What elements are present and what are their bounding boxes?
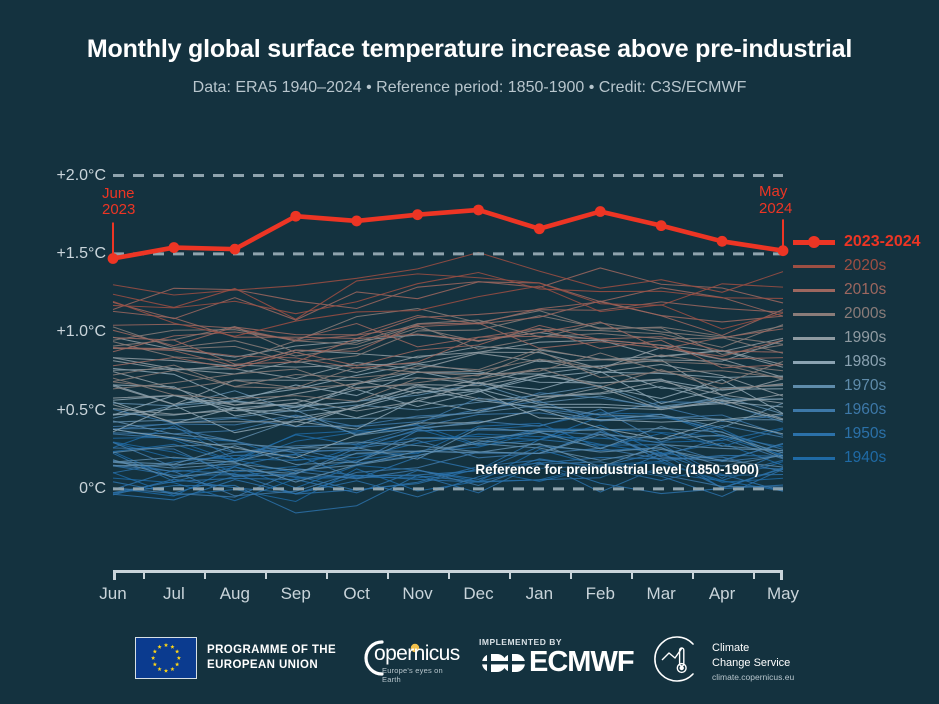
ecmwf-mark-icon [479,650,525,676]
highlight-series-marker [656,220,667,231]
highlight-series-marker [717,236,728,247]
legend-item-2020s[interactable]: 2020s [793,254,933,278]
eu-programme-line1: PROGRAMME OF THE [207,643,336,658]
eu-programme-line2: EUROPEAN UNION [207,658,336,673]
page-subtitle: Data: ERA5 1940–2024 • Reference period:… [0,79,939,97]
eu-star [153,649,157,653]
highlight-series-marker [351,216,362,227]
eu-star [157,667,161,671]
y-axis-tick-label: 0°C [18,480,106,498]
legend-label: 1990s [844,329,886,347]
decade-line-2020s [113,274,783,319]
x-axis-tick [753,570,755,579]
x-axis-cap [780,570,783,580]
legend-label: 1980s [844,353,886,371]
x-axis-tick [509,570,511,579]
legend-swatch [793,240,835,245]
x-axis-tick [265,570,267,579]
highlight-series-marker [229,244,240,255]
x-axis-tick [631,570,633,579]
x-axis-label-apr: Apr [709,584,735,604]
x-axis-label-nov: Nov [402,584,432,604]
x-axis-label-mar: Mar [647,584,676,604]
legend-item-2023-2024[interactable]: 2023-2024 [793,230,933,254]
eu-star [175,662,179,666]
y-axis-tick-label: +0.5°C [18,402,106,420]
x-axis-label-oct: Oct [343,584,369,604]
legend-item-1950s[interactable]: 1950s [793,422,933,446]
ecmwf-wordmark: ECMWF [529,646,634,679]
eu-flag-icon [135,637,197,679]
x-axis-tick [448,570,450,579]
chart-canvas: Monthly global surface temperature incre… [0,0,939,704]
legend-swatch [793,457,835,460]
x-axis-tick [143,570,145,579]
x-axis-label-dec: Dec [463,584,493,604]
eu-star [170,645,174,649]
c3s-logo: Climate Change Service climate.copernicu… [650,634,835,684]
x-axis-label-jan: Jan [526,584,553,604]
legend-item-1940s[interactable]: 1940s [793,446,933,470]
decade-line-2010s [113,282,783,320]
copernicus-logo: opernicus Europe's eyes on Earth [352,636,462,680]
x-axis-label-feb: Feb [586,584,615,604]
legend-swatch [793,361,835,364]
legend-label: 2010s [844,281,886,299]
annotation-june-2023-line1: June [102,186,135,203]
x-axis-label-sep: Sep [281,584,311,604]
annotation-june-2023: June 2023 [102,186,135,220]
x-axis-label-aug: Aug [220,584,250,604]
x-axis-tick [204,570,206,579]
y-axis-tick-label: +1.0°C [18,323,106,341]
highlight-series-marker [534,223,545,234]
copernicus-wordmark: opernicus [374,642,460,666]
annotation-may-2024: May 2024 [759,184,792,218]
page-title: Monthly global surface temperature incre… [0,35,939,64]
y-axis-tick-label: +2.0°C [18,167,106,185]
annotation-may-2024-line1: May [759,184,792,201]
legend-label: 1960s [844,401,886,419]
legend-item-1980s[interactable]: 1980s [793,350,933,374]
highlight-series-marker [169,242,180,253]
decade-line-1980s [113,371,783,415]
decade-line-2020s [113,273,783,314]
eu-programme-label: PROGRAMME OF THE EUROPEAN UNION [207,643,336,673]
x-axis-tick [570,570,572,579]
legend-swatch [793,409,835,412]
c3s-name: Climate Change Service [712,641,790,671]
legend-swatch [793,313,835,316]
reference-line-label: Reference for preindustrial level (1850-… [475,462,759,477]
x-axis-tick [387,570,389,579]
c3s-name-line2: Change Service [712,656,790,671]
highlight-series-marker [290,211,301,222]
annotation-may-2024-line2: 2024 [759,201,792,218]
x-axis-tick [326,570,328,579]
legend-label: 1970s [844,377,886,395]
eu-star [157,645,161,649]
legend: 2023-20242020s2010s2000s1990s1980s1970s1… [793,230,933,470]
highlight-series-marker [108,253,119,264]
eu-star [170,667,174,671]
highlight-series-marker [595,206,606,217]
legend-label: 1940s [844,449,886,467]
highlight-series-marker [778,245,789,256]
footer: PROGRAMME OF THE EUROPEAN UNION opernicu… [0,632,939,692]
decade-line-2020s [113,252,783,295]
legend-swatch [793,265,835,268]
y-axis-tick-label: +1.5°C [18,245,106,263]
c3s-name-line1: Climate [712,641,790,656]
legend-swatch [793,433,835,436]
legend-swatch [793,337,835,340]
eu-star [175,649,179,653]
eu-star [164,669,168,673]
highlight-series-marker [473,205,484,216]
x-axis-cap [113,570,116,580]
x-axis-label-may: May [767,584,799,604]
legend-swatch [793,289,835,292]
legend-item-1960s[interactable]: 1960s [793,398,933,422]
legend-item-2000s[interactable]: 2000s [793,302,933,326]
legend-label: 2023-2024 [844,233,921,251]
eu-star [177,656,181,660]
eu-star [153,662,157,666]
legend-label: 2020s [844,257,886,275]
x-axis-tick [692,570,694,579]
legend-swatch [793,385,835,388]
legend-label: 2000s [844,305,886,323]
highlight-series-line [113,210,783,259]
legend-label: 1950s [844,425,886,443]
eu-star [164,643,168,647]
x-axis-label-jun: Jun [99,584,126,604]
c3s-thermometer-icon [650,634,702,684]
c3s-url: climate.copernicus.eu [712,672,794,682]
eu-star [151,656,155,660]
legend-item-1970s[interactable]: 1970s [793,374,933,398]
x-axis-label-jul: Jul [163,584,185,604]
annotation-june-2023-line2: 2023 [102,202,135,219]
highlight-series-marker [412,209,423,220]
legend-item-1990s[interactable]: 1990s [793,326,933,350]
legend-item-2010s[interactable]: 2010s [793,278,933,302]
copernicus-tagline: Europe's eyes on Earth [382,666,462,684]
eu-stars-icon [136,638,196,678]
x-axis: JunJulAugSepOctNovDecJanFebMarAprMay [113,570,783,571]
ecmwf-logo: ECMWF [479,646,634,679]
